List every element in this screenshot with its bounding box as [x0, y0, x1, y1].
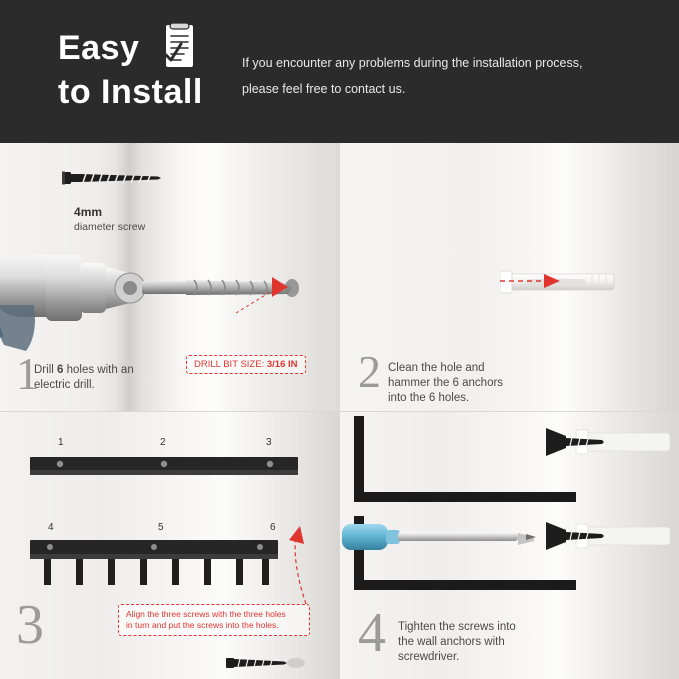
wood-screw-image — [62, 165, 172, 191]
header-description: If you encounter any problems during the… — [242, 50, 642, 102]
drill-bit-size-value: 3/16 IN — [267, 359, 298, 370]
step-1-panel: 4mm diameter screw — [0, 143, 339, 411]
document-checklist-icon — [160, 22, 200, 72]
hole-number-4: 4 — [48, 522, 54, 533]
step-2-caption: Clean the hole and hammer the 6 anchors … — [388, 361, 548, 406]
hole-number-3: 3 — [266, 437, 272, 448]
curved-arrow-icon — [250, 522, 320, 612]
step-3-callout-line-1: Align the three screws with the three ho… — [126, 609, 286, 619]
drill-bit-size-label: DRILL BIT SIZE: — [194, 359, 264, 370]
step-4-caption: Tighten the screws into the wall anchors… — [398, 620, 568, 665]
step-2-panel: 2 Clean the hole and hammer the 6 anchor… — [340, 143, 679, 411]
step-3-number: 3 — [16, 602, 44, 648]
step-2-caption-line-1: Clean the hole and — [388, 362, 485, 374]
step-4-caption-line-2: the wall anchors with — [398, 636, 505, 648]
step-2-caption-line-3: into the 6 holes. — [388, 392, 469, 404]
hole-number-5: 5 — [158, 522, 164, 533]
step-4-panel: 4 Tighten the screws into the wall ancho… — [340, 412, 679, 679]
hole-number-1: 1 — [58, 437, 64, 448]
dashed-arrow-icon — [498, 271, 570, 291]
step-3-panel: 1 2 3 4 5 6 — [0, 412, 339, 679]
header-description-line-1: If you encounter any problems during the… — [242, 50, 642, 76]
drill-bit-size-callout: DRILL BIT SIZE: 3/16 IN — [186, 355, 306, 374]
screw-in-anchor-image — [536, 418, 676, 468]
header-description-line-2: please feel free to contact us. — [242, 76, 642, 102]
screwdriver-image — [340, 506, 560, 566]
screw-diameter-value: 4 — [74, 205, 81, 219]
step-1-caption-prefix: Drill — [34, 364, 57, 376]
screw-image — [226, 652, 306, 674]
instruction-sheet: Easy to Install If you encounter any pro… — [0, 0, 679, 679]
step-4-caption-line-1: Tighten the screws into — [398, 621, 516, 633]
electric-drill-image — [0, 233, 306, 353]
step-4-caption-line-3: screwdriver. — [398, 651, 459, 663]
header-banner: Easy to Install If you encounter any pro… — [0, 0, 679, 143]
step-1-caption: Drill 6 holes with anelectric drill. — [34, 363, 184, 393]
step-2-number: 2 — [358, 349, 381, 395]
hole-number-2: 2 — [160, 437, 166, 448]
page-title-line-2: to Install — [58, 70, 218, 114]
step-2-caption-line-2: hammer the 6 anchors — [388, 377, 503, 389]
step-4-number: 4 — [358, 610, 386, 656]
screw-diameter-unit: mm — [81, 205, 102, 219]
step-3-callout: Align the three screws with the three ho… — [118, 604, 310, 636]
screw-size-label: 4mm diameter screw — [74, 205, 145, 234]
rack-bar-top-image — [30, 455, 310, 477]
step-3-callout-line-2: in turn and put the screws into the hole… — [126, 620, 279, 630]
screw-diameter-sublabel: diameter screw — [74, 221, 145, 233]
